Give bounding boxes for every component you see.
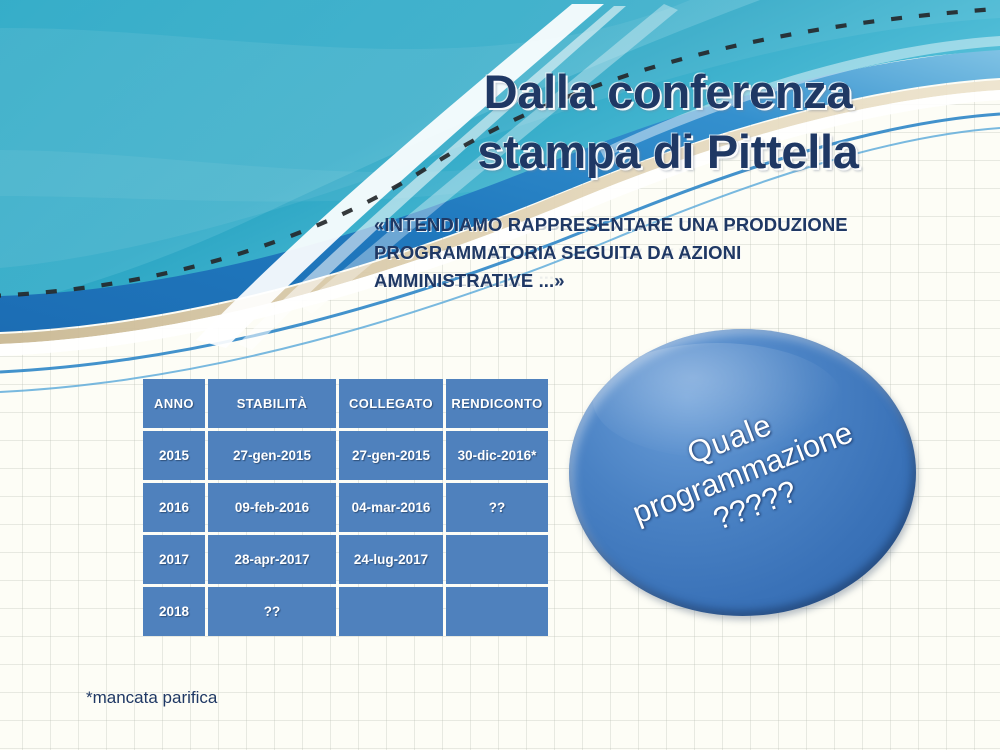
table-header-anno: ANNO xyxy=(143,379,205,428)
cell-rendiconto: ?? xyxy=(446,483,548,532)
table-row: 2015 27-gen-2015 27-gen-2015 30-dic-2016… xyxy=(143,431,548,480)
title-line-1: Dalla conferenza xyxy=(388,62,948,122)
subtitle-row: «INTENDIAMO RAPPRESENTARE UNA PRODUZIONE… xyxy=(374,214,954,242)
cell-anno: 2017 xyxy=(143,535,205,584)
table-row: 2017 28-apr-2017 24-lug-2017 xyxy=(143,535,548,584)
table-row: 2018 ?? xyxy=(143,587,548,636)
cell-rendiconto xyxy=(446,587,548,636)
cell-stabilita: 28-apr-2017 xyxy=(208,535,336,584)
slide-title: Dalla conferenza stampa di Pittella xyxy=(388,62,948,182)
cell-rendiconto: 30-dic-2016* xyxy=(446,431,548,480)
cell-collegato: 24-lug-2017 xyxy=(339,535,443,584)
title-line-2: stampa di Pittella xyxy=(388,122,948,182)
subtitle-line-2-reflection: PROGRAMMATORIA SEGUITA DA AZIONI xyxy=(374,245,741,262)
cell-rendiconto xyxy=(446,535,548,584)
subtitle-line-1-reflection: «INTENDIAMO RAPPRESENTARE UNA PRODUZIONE xyxy=(374,217,848,234)
cell-collegato xyxy=(339,587,443,636)
table-row: 2016 09-feb-2016 04-mar-2016 ?? xyxy=(143,483,548,532)
subtitle-line-3-reflection: AMMINISTRATIVE ...» xyxy=(374,273,565,290)
cell-stabilita: 09-feb-2016 xyxy=(208,483,336,532)
oval-callout-text: Quale programmazione ????? xyxy=(569,329,916,616)
cell-stabilita: ?? xyxy=(208,587,336,636)
slide-subtitle: «INTENDIAMO RAPPRESENTARE UNA PRODUZIONE… xyxy=(374,214,954,298)
table-header-rendiconto: RENDICONTO xyxy=(446,379,548,428)
table-header-stabilita: STABILITÀ xyxy=(208,379,336,428)
presentation-slide: Dalla conferenza stampa di Pittella «INT… xyxy=(0,0,1000,750)
legislation-dates-table: ANNO STABILITÀ COLLEGATO RENDICONTO 2015… xyxy=(140,376,551,639)
oval-callout-shape: Quale programmazione ????? xyxy=(569,329,916,616)
cell-anno: 2015 xyxy=(143,431,205,480)
footnote-text: *mancata parifica xyxy=(86,688,217,708)
cell-stabilita: 27-gen-2015 xyxy=(208,431,336,480)
cell-anno: 2016 xyxy=(143,483,205,532)
cell-collegato: 04-mar-2016 xyxy=(339,483,443,532)
cell-collegato: 27-gen-2015 xyxy=(339,431,443,480)
table-header-row: ANNO STABILITÀ COLLEGATO RENDICONTO xyxy=(143,379,548,428)
subtitle-row: PROGRAMMATORIA SEGUITA DA AZIONI PROGRAM… xyxy=(374,242,954,270)
table-header-collegato: COLLEGATO xyxy=(339,379,443,428)
cell-anno: 2018 xyxy=(143,587,205,636)
subtitle-row: AMMINISTRATIVE ...» AMMINISTRATIVE ...» xyxy=(374,270,954,298)
